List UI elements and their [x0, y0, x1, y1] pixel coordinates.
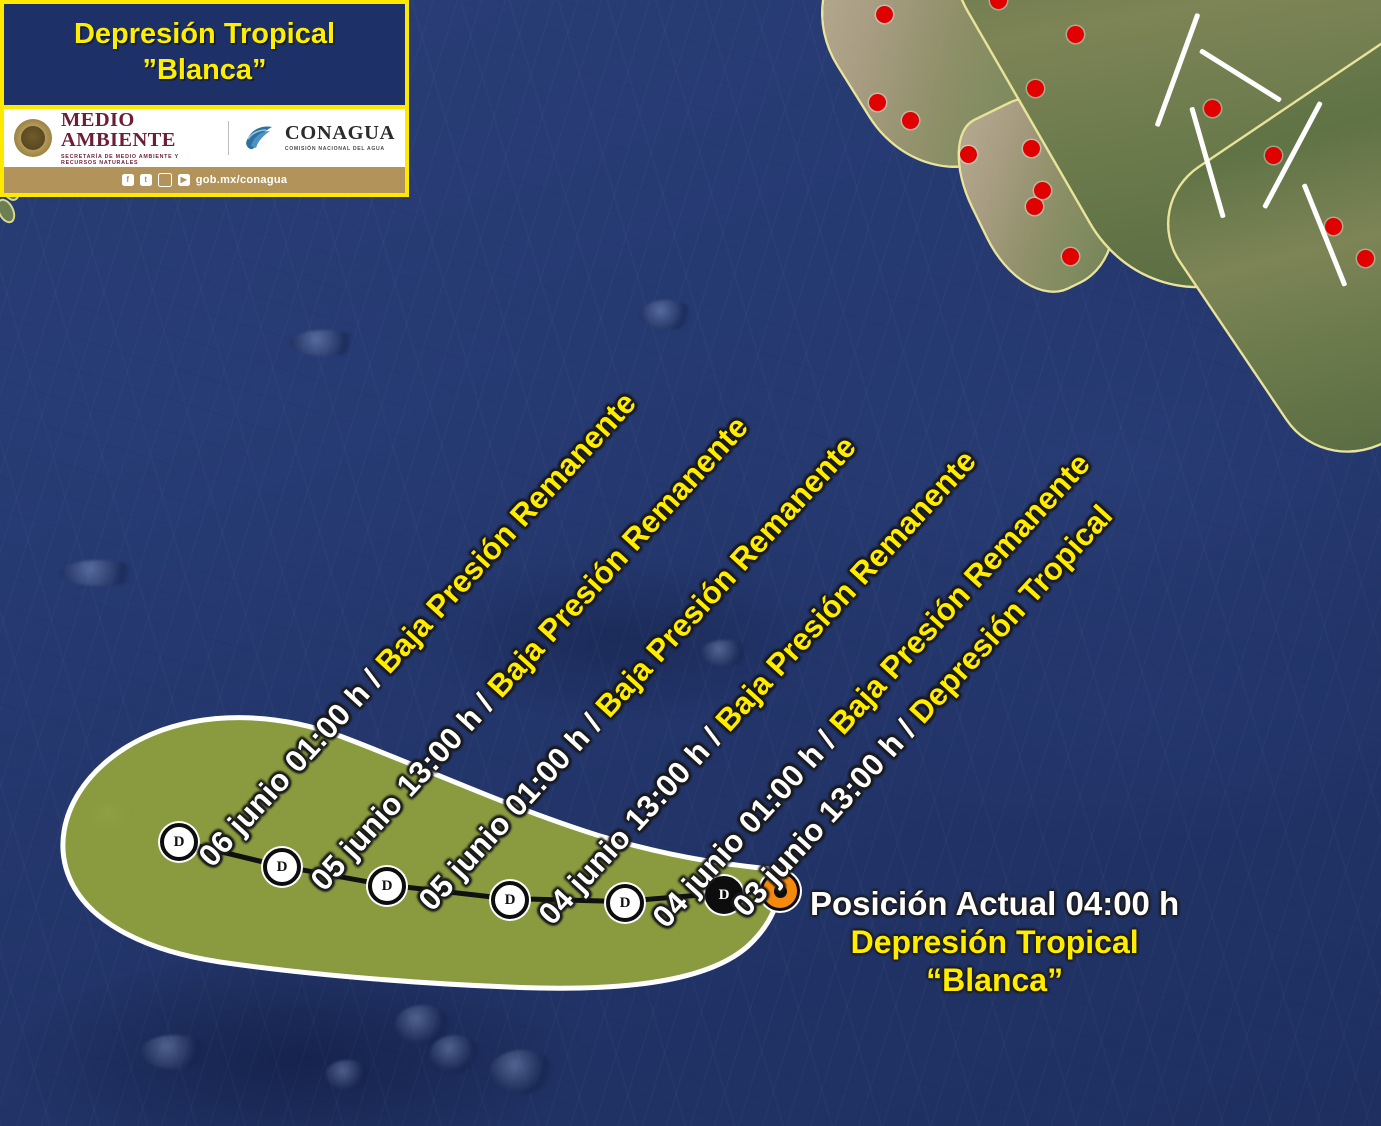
- mexico-coat-of-arms-icon: [14, 119, 52, 157]
- twitter-icon[interactable]: t: [140, 174, 152, 186]
- coastal-marker: [869, 94, 886, 111]
- conagua-name: CONAGUA: [285, 123, 395, 144]
- seamount: [490, 1050, 554, 1094]
- seamount: [430, 1035, 480, 1073]
- conagua-logo: CONAGUA COMISIÓN NACIONAL DEL AGUA: [285, 123, 395, 153]
- track-point-marker: D: [263, 848, 301, 886]
- header-panel: Depresión Tropical ”Blanca” MEDIO AMBIEN…: [0, 0, 409, 197]
- facebook-icon[interactable]: f: [122, 174, 134, 186]
- callout-line-name: “Blanca”: [810, 962, 1179, 1000]
- seamount: [325, 1060, 371, 1090]
- seamount: [60, 560, 140, 586]
- semarnat-subtitle: SECRETARÍA DE MEDIO AMBIENTE Y RECURSOS …: [61, 154, 215, 166]
- track-point-marker: D: [160, 823, 198, 861]
- seamount: [640, 300, 694, 330]
- coastal-marker: [1023, 140, 1040, 157]
- coastal-marker: [1357, 250, 1374, 267]
- seamount: [290, 330, 360, 356]
- semarnat-logo: MEDIO AMBIENTE SECRETARÍA DE MEDIO AMBIE…: [61, 110, 215, 166]
- coastal-marker: [1325, 218, 1342, 235]
- conagua-wave-icon: [242, 121, 276, 155]
- coastal-marker: [1067, 26, 1084, 43]
- coastal-marker: [1204, 100, 1221, 117]
- agency-logo-bar: MEDIO AMBIENTE SECRETARÍA DE MEDIO AMBIE…: [0, 109, 409, 167]
- storm-title-box: Depresión Tropical ”Blanca”: [0, 0, 409, 109]
- instagram-icon[interactable]: [158, 173, 172, 187]
- track-point-marker: D: [368, 867, 406, 905]
- callout-line-category: Depresión Tropical: [810, 924, 1179, 962]
- coastal-marker: [1062, 248, 1079, 265]
- forecast-map-image: DDDDDD 06 junio 01:00 h / Baja Presión R…: [0, 0, 1381, 1126]
- coastal-marker: [1026, 198, 1043, 215]
- logo-divider: [228, 121, 229, 155]
- storm-title-name: ”Blanca”: [12, 52, 397, 88]
- coastal-marker: [876, 6, 893, 23]
- coastal-marker: [1034, 182, 1051, 199]
- coastal-marker: [1265, 147, 1282, 164]
- storm-title-category: Depresión Tropical: [12, 16, 397, 52]
- agency-url[interactable]: gob.mx/conagua: [196, 174, 288, 186]
- callout-line-position: Posición Actual 04:00 h: [810, 885, 1179, 924]
- semarnat-name: MEDIO AMBIENTE: [61, 110, 215, 151]
- seamount: [700, 640, 750, 666]
- coastal-marker: [902, 112, 919, 129]
- coastal-marker: [960, 146, 977, 163]
- conagua-subtitle: COMISIÓN NACIONAL DEL AGUA: [285, 146, 395, 152]
- track-point-marker: D: [606, 884, 644, 922]
- seamount: [140, 1035, 210, 1069]
- track-point-marker: D: [491, 881, 529, 919]
- cone-of-uncertainty: [40, 700, 780, 990]
- current-position-callout: Posición Actual 04:00 h Depresión Tropic…: [810, 885, 1179, 999]
- social-bar: f t ▶ gob.mx/conagua: [0, 167, 409, 197]
- youtube-icon[interactable]: ▶: [178, 174, 190, 186]
- coastal-marker: [1027, 80, 1044, 97]
